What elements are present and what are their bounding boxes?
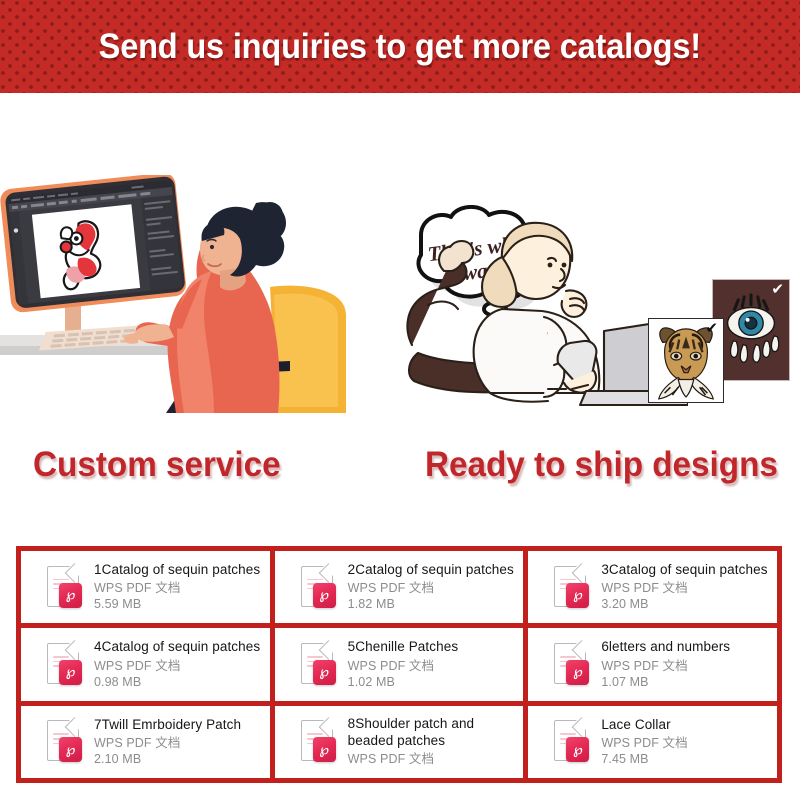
file-type: WPS PDF 文档 [601, 658, 730, 674]
file-card[interactable]: ℘ Lace Collar WPS PDF 文档 7.45 MB [528, 706, 777, 778]
ready-to-ship-illustration [398, 213, 688, 428]
file-meta: 3Catalog of sequin patches WPS PDF 文档 3.… [601, 562, 773, 613]
file-title: Lace Collar [601, 717, 687, 734]
eye-patch-check-icon: ✔ [771, 282, 784, 297]
pdf-file-icon: ℘ [47, 566, 82, 609]
file-title: 3Catalog of sequin patches [601, 562, 767, 579]
file-title: 6letters and numbers [601, 639, 730, 656]
pdf-file-icon: ℘ [47, 720, 82, 763]
file-title: 5Chenille Patches [348, 639, 459, 656]
tiger-patch-check-icon: ✔ [705, 321, 718, 336]
pdf-file-icon: ℘ [301, 566, 336, 609]
file-meta: 5Chenille Patches WPS PDF 文档 1.02 MB [348, 639, 465, 690]
pdf-badge-glyph: ℘ [313, 660, 336, 685]
file-meta: 6letters and numbers WPS PDF 文档 1.07 MB [601, 639, 736, 690]
file-meta: 8Shoulder patch and beaded patches WPS P… [348, 716, 524, 767]
pdf-file-icon: ℘ [554, 643, 589, 686]
heading-ready-to-ship: Ready to ship designs [425, 445, 796, 485]
pdf-badge-glyph: ℘ [59, 583, 82, 608]
file-title: 2Catalog of sequin patches [348, 562, 514, 579]
file-meta: 2Catalog of sequin patches WPS PDF 文档 1.… [348, 562, 520, 613]
file-type: WPS PDF 文档 [601, 580, 767, 596]
heading-ready-to-ship-text: Ready to ship designs [425, 445, 778, 485]
heading-custom-service: Custom service [33, 445, 294, 485]
file-size: 3.20 MB [601, 596, 767, 612]
file-type: WPS PDF 文档 [94, 658, 260, 674]
file-size: 1.82 MB [348, 596, 514, 612]
pdf-file-icon: ℘ [301, 643, 336, 686]
illustration-stage: That's what I want! [0, 93, 800, 533]
file-card[interactable]: ℘ 4Catalog of sequin patches WPS PDF 文档 … [21, 628, 270, 700]
file-card[interactable]: ℘ 5Chenille Patches WPS PDF 文档 1.02 MB [275, 628, 524, 700]
file-type: WPS PDF 文档 [601, 735, 687, 751]
file-title: 8Shoulder patch and beaded patches [348, 716, 518, 749]
pdf-badge-glyph: ℘ [566, 583, 589, 608]
pdf-badge-glyph: ℘ [59, 737, 82, 762]
custom-service-illustration [0, 175, 370, 425]
file-card[interactable]: ℘ 2Catalog of sequin patches WPS PDF 文档 … [275, 551, 524, 623]
file-meta: 4Catalog of sequin patches WPS PDF 文档 0.… [94, 639, 266, 690]
file-card[interactable]: ℘ 3Catalog of sequin patches WPS PDF 文档 … [528, 551, 777, 623]
file-size: 7.45 MB [601, 751, 687, 767]
catalog-file-grid: ℘ 1Catalog of sequin patches WPS PDF 文档 … [16, 546, 782, 783]
pdf-badge-glyph: ℘ [566, 660, 589, 685]
pdf-file-icon: ℘ [301, 720, 336, 763]
pdf-badge-glyph: ℘ [59, 660, 82, 685]
file-size: 1.07 MB [601, 674, 730, 690]
file-size: 2.10 MB [94, 751, 241, 767]
patch-card-tiger[interactable]: ✔ [648, 318, 724, 403]
file-type: WPS PDF 文档 [348, 580, 514, 596]
banner-title-text: Send us inquiries to get more catalogs! [99, 27, 701, 67]
file-meta: 1Catalog of sequin patches WPS PDF 文档 5.… [94, 562, 266, 613]
pdf-file-icon: ℘ [554, 566, 589, 609]
pdf-badge-glyph: ℘ [313, 737, 336, 762]
file-title: 7Twill Emrboidery Patch [94, 717, 241, 734]
file-card[interactable]: ℘ 8Shoulder patch and beaded patches WPS… [275, 706, 524, 778]
file-title: 4Catalog of sequin patches [94, 639, 260, 656]
pdf-file-icon: ℘ [554, 720, 589, 763]
file-card[interactable]: ℘ 6letters and numbers WPS PDF 文档 1.07 M… [528, 628, 777, 700]
file-type: WPS PDF 文档 [348, 658, 459, 674]
file-type: WPS PDF 文档 [94, 735, 241, 751]
file-meta: Lace Collar WPS PDF 文档 7.45 MB [601, 717, 693, 768]
pdf-badge-glyph: ℘ [566, 737, 589, 762]
file-type: WPS PDF 文档 [94, 580, 260, 596]
banner-title: Send us inquiries to get more catalogs! [0, 27, 800, 67]
pdf-file-icon: ℘ [47, 643, 82, 686]
file-meta: 7Twill Emrboidery Patch WPS PDF 文档 2.10 … [94, 717, 247, 768]
file-size: 1.02 MB [348, 674, 459, 690]
file-title: 1Catalog of sequin patches [94, 562, 260, 579]
header-banner: Send us inquiries to get more catalogs! [0, 0, 800, 93]
file-size: 0.98 MB [94, 674, 260, 690]
file-size: 5.59 MB [94, 596, 260, 612]
file-type: WPS PDF 文档 [348, 751, 518, 767]
pdf-badge-glyph: ℘ [313, 583, 336, 608]
file-card[interactable]: ℘ 1Catalog of sequin patches WPS PDF 文档 … [21, 551, 270, 623]
file-card[interactable]: ℘ 7Twill Emrboidery Patch WPS PDF 文档 2.1… [21, 706, 270, 778]
heading-custom-service-text: Custom service [33, 445, 281, 485]
